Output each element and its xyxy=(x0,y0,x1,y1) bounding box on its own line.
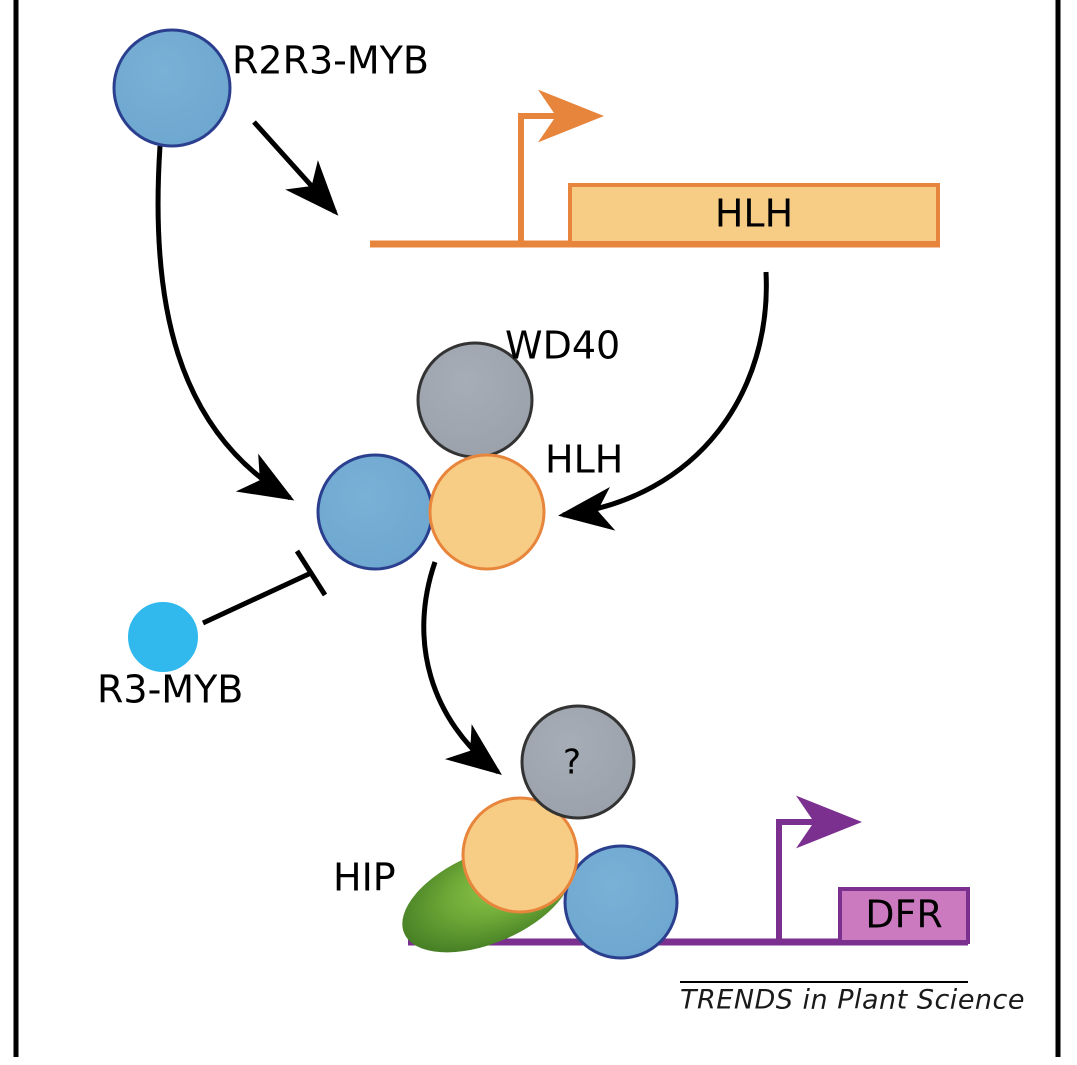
mbw-complex-group: WD40 HLH xyxy=(318,324,623,570)
edge-myb-to-hlh-gene xyxy=(254,122,335,212)
label-r2r3-myb: R2R3-MYB xyxy=(232,39,429,83)
label-unknown-partner: ? xyxy=(563,743,581,783)
label-hip: HIP xyxy=(333,856,396,900)
node-myb-in-complex xyxy=(318,455,432,569)
label-hlh-circle: HLH xyxy=(545,438,623,482)
hlh-gene-box-label: HLH xyxy=(715,192,793,236)
node-r3-myb xyxy=(129,603,197,671)
label-r3-myb: R3-MYB xyxy=(97,668,243,712)
edge-r3myb-inhibition xyxy=(203,551,325,623)
diagram-svg: HLH DFR R2R3-MYB R3-MYB xyxy=(0,0,1077,1065)
dfr-promoter-complex-group: ? HIP xyxy=(333,706,677,975)
edge-complex-to-dfr xyxy=(424,562,498,772)
inhibition-bar-cap xyxy=(297,551,325,595)
journal-credit-group: TRENDS in Plant Science xyxy=(680,982,1025,1016)
journal-credit-text: TRENDS in Plant Science xyxy=(680,985,1025,1016)
node-r2r3-myb xyxy=(114,30,230,146)
inhibition-shaft xyxy=(203,573,311,623)
edge-myb-to-complex xyxy=(158,146,290,498)
hlh-gene-group: HLH xyxy=(370,116,940,244)
label-wd40: WD40 xyxy=(505,324,620,368)
figure-canvas: HLH DFR R2R3-MYB R3-MYB xyxy=(0,0,1077,1065)
node-myb-lower xyxy=(565,846,677,958)
node-hlh-in-complex xyxy=(430,455,544,569)
dfr-gene-box-label: DFR xyxy=(865,893,943,937)
